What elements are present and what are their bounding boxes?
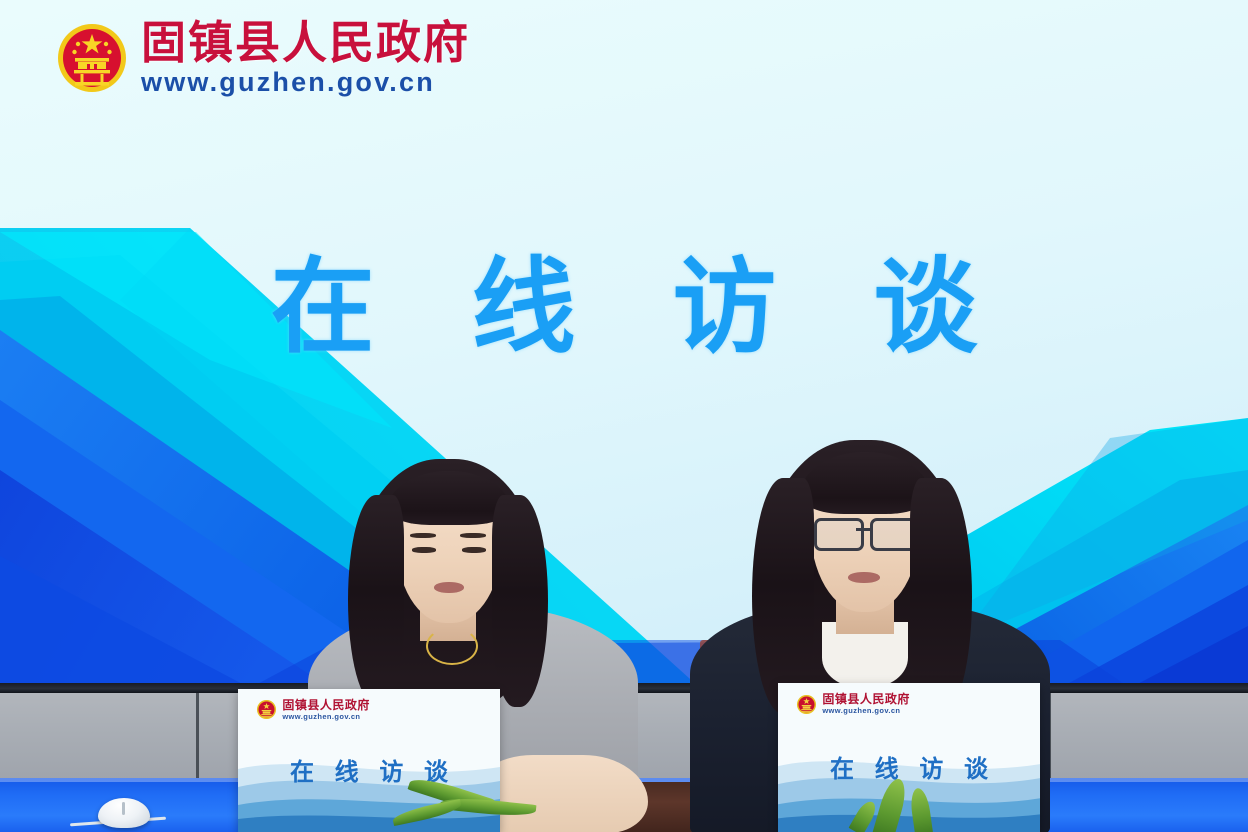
person-left-hair-strand xyxy=(492,495,548,707)
person-right-hair-strand xyxy=(910,478,972,716)
nameplate-left-logo: 固镇县人民政府 www.guzhen.gov.cn xyxy=(256,699,370,721)
person-right-glasses-icon xyxy=(814,518,864,551)
page-title: 在 线 访 谈 xyxy=(0,222,1248,373)
broadcast-screenshot: 固镇县人民政府 www.guzhen.gov.cn 在 线 访 谈 xyxy=(0,0,1248,832)
china-national-emblem-icon xyxy=(55,21,129,95)
person-left-brow xyxy=(410,533,436,538)
person-left-brow xyxy=(460,533,486,538)
gov-logo: 固镇县人民政府 www.guzhen.gov.cn xyxy=(55,20,470,96)
person-left-eye xyxy=(462,547,486,553)
nameplate-right-website: www.guzhen.gov.cn xyxy=(822,707,910,715)
gov-name-text: 固镇县人民政府 xyxy=(141,20,470,65)
person-left-mouth xyxy=(434,582,464,593)
person-right-glasses-bridge xyxy=(856,528,872,531)
nameplate-right-logo: 固镇县人民政府 www.guzhen.gov.cn xyxy=(796,693,910,715)
person-right-mouth xyxy=(848,572,880,583)
nameplate-left-website: www.guzhen.gov.cn xyxy=(282,713,370,721)
person-left-eye xyxy=(412,547,436,553)
computer-mouse-icon[interactable] xyxy=(98,798,150,828)
nameplate-right-title: 在 线 访 谈 xyxy=(778,749,1040,784)
nameplate-right: 固镇县人民政府 www.guzhen.gov.cn 在 线 访 谈 xyxy=(778,683,1040,832)
person-left-necklace xyxy=(426,627,478,665)
wall-panel-seam xyxy=(196,690,199,780)
nameplate-left-title: 在 线 访 谈 xyxy=(238,752,500,787)
nameplate-right-gov-name: 固镇县人民政府 xyxy=(822,693,910,705)
gov-website-text: www.guzhen.gov.cn xyxy=(141,69,470,96)
person-right-hair-strand xyxy=(752,478,814,714)
china-national-emblem-icon xyxy=(256,699,277,720)
nameplate-left-gov-name: 固镇县人民政府 xyxy=(282,699,370,711)
china-national-emblem-icon xyxy=(796,694,817,715)
person-left-hair-strand xyxy=(348,495,404,705)
